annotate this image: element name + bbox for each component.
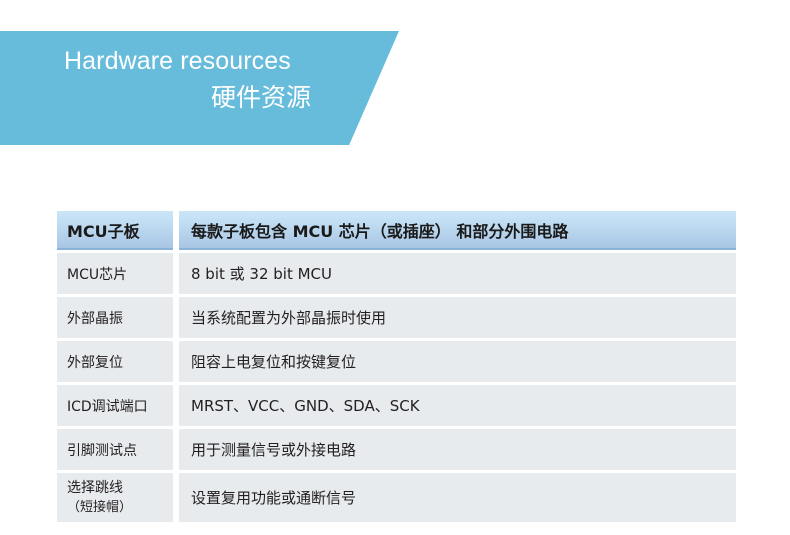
table-row: 选择跳线 （短接帽） 设置复用功能或通断信号: [57, 473, 736, 522]
row-label-line2: （短接帽）: [67, 498, 173, 517]
table-row: ICD调试端口 MRST、VCC、GND、SDA、SCK: [57, 385, 736, 426]
table-header-row: MCU子板 每款子板包含 MCU 芯片（或插座） 和部分外围电路: [57, 211, 736, 250]
header-banner: Hardware resources 硬件资源: [0, 31, 399, 145]
row-value: 8 bit 或 32 bit MCU: [179, 253, 736, 294]
header-cell-label: MCU子板: [57, 211, 173, 250]
row-label: 外部晶振: [57, 297, 173, 338]
row-label: 引脚测试点: [57, 429, 173, 470]
row-label: MCU芯片: [57, 253, 173, 294]
table-row: 外部晶振 当系统配置为外部晶振时使用: [57, 297, 736, 338]
row-label: ICD调试端口: [57, 385, 173, 426]
row-label: 外部复位: [57, 341, 173, 382]
row-value: 用于测量信号或外接电路: [179, 429, 736, 470]
table-row: 外部复位 阻容上电复位和按键复位: [57, 341, 736, 382]
table-row: 引脚测试点 用于测量信号或外接电路: [57, 429, 736, 470]
table-body: MCU子板 每款子板包含 MCU 芯片（或插座） 和部分外围电路 MCU芯片 8…: [57, 211, 736, 522]
header-cell-value: 每款子板包含 MCU 芯片（或插座） 和部分外围电路: [179, 211, 736, 250]
row-label: 选择跳线 （短接帽）: [57, 473, 173, 522]
hardware-resources-table: MCU子板 每款子板包含 MCU 芯片（或插座） 和部分外围电路 MCU芯片 8…: [57, 211, 736, 522]
row-value: 当系统配置为外部晶振时使用: [179, 297, 736, 338]
banner-title-english: Hardware resources: [64, 44, 311, 78]
row-label-line1: 选择跳线: [67, 479, 173, 498]
row-value: 阻容上电复位和按键复位: [179, 341, 736, 382]
row-value: 设置复用功能或通断信号: [179, 473, 736, 522]
table-row: MCU芯片 8 bit 或 32 bit MCU: [57, 253, 736, 294]
row-value: MRST、VCC、GND、SDA、SCK: [179, 385, 736, 426]
banner-title-chinese: 硬件资源: [64, 78, 311, 118]
